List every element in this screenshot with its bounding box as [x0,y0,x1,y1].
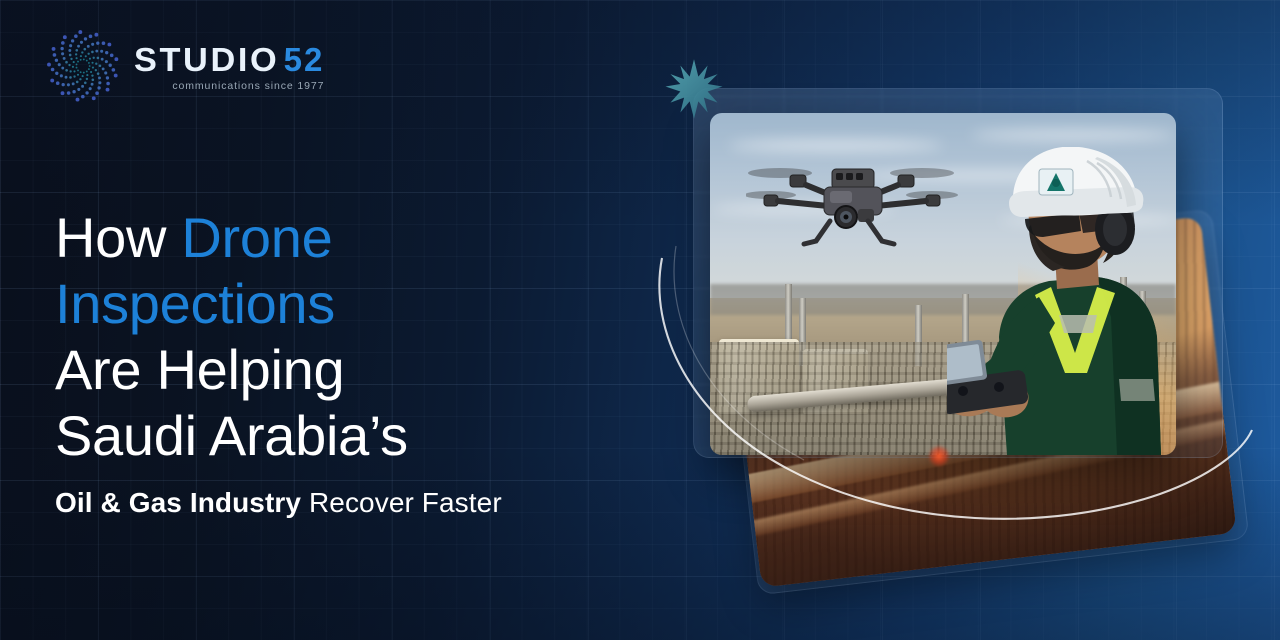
headline-line-1: How Drone [55,205,695,271]
brand-name-number: 52 [284,43,325,76]
subheadline-regular: Recover Faster [301,487,502,518]
studio52-spiral-dots-logo-icon [46,29,120,103]
brand-wordmark: STUDIO 52 communications since 1977 [134,41,324,92]
headline-text: Are Helping [55,338,344,401]
headline-text: Saudi Arabia’s [55,404,408,467]
headline: How Drone Inspections Are Helping Saudi … [55,205,695,469]
brand-tagline: communications since 1977 [134,80,324,92]
field-engineer-figure [947,147,1176,455]
headline-text: How [55,206,181,269]
inspection-drone-icon [746,151,958,261]
sparkle-star-icon [663,58,725,120]
headline-line-2: Inspections [55,271,695,337]
hero-banner: STUDIO 52 communications since 1977 How … [0,0,1280,640]
headline-line-4: Saudi Arabia’s [55,403,695,469]
brand-name-primary: STUDIO [134,43,279,76]
headline-accent-text: Drone [181,206,332,269]
brand-logo[interactable]: STUDIO 52 communications since 1977 [46,30,324,102]
subheadline: Oil & Gas Industry Recover Faster [55,487,502,519]
subheadline-bold: Oil & Gas Industry [55,487,301,518]
lens-flare [928,445,950,467]
headline-line-3: Are Helping [55,337,695,403]
drone-inspecting-refinery-photo [710,113,1176,455]
headline-accent-text: Inspections [55,272,335,335]
